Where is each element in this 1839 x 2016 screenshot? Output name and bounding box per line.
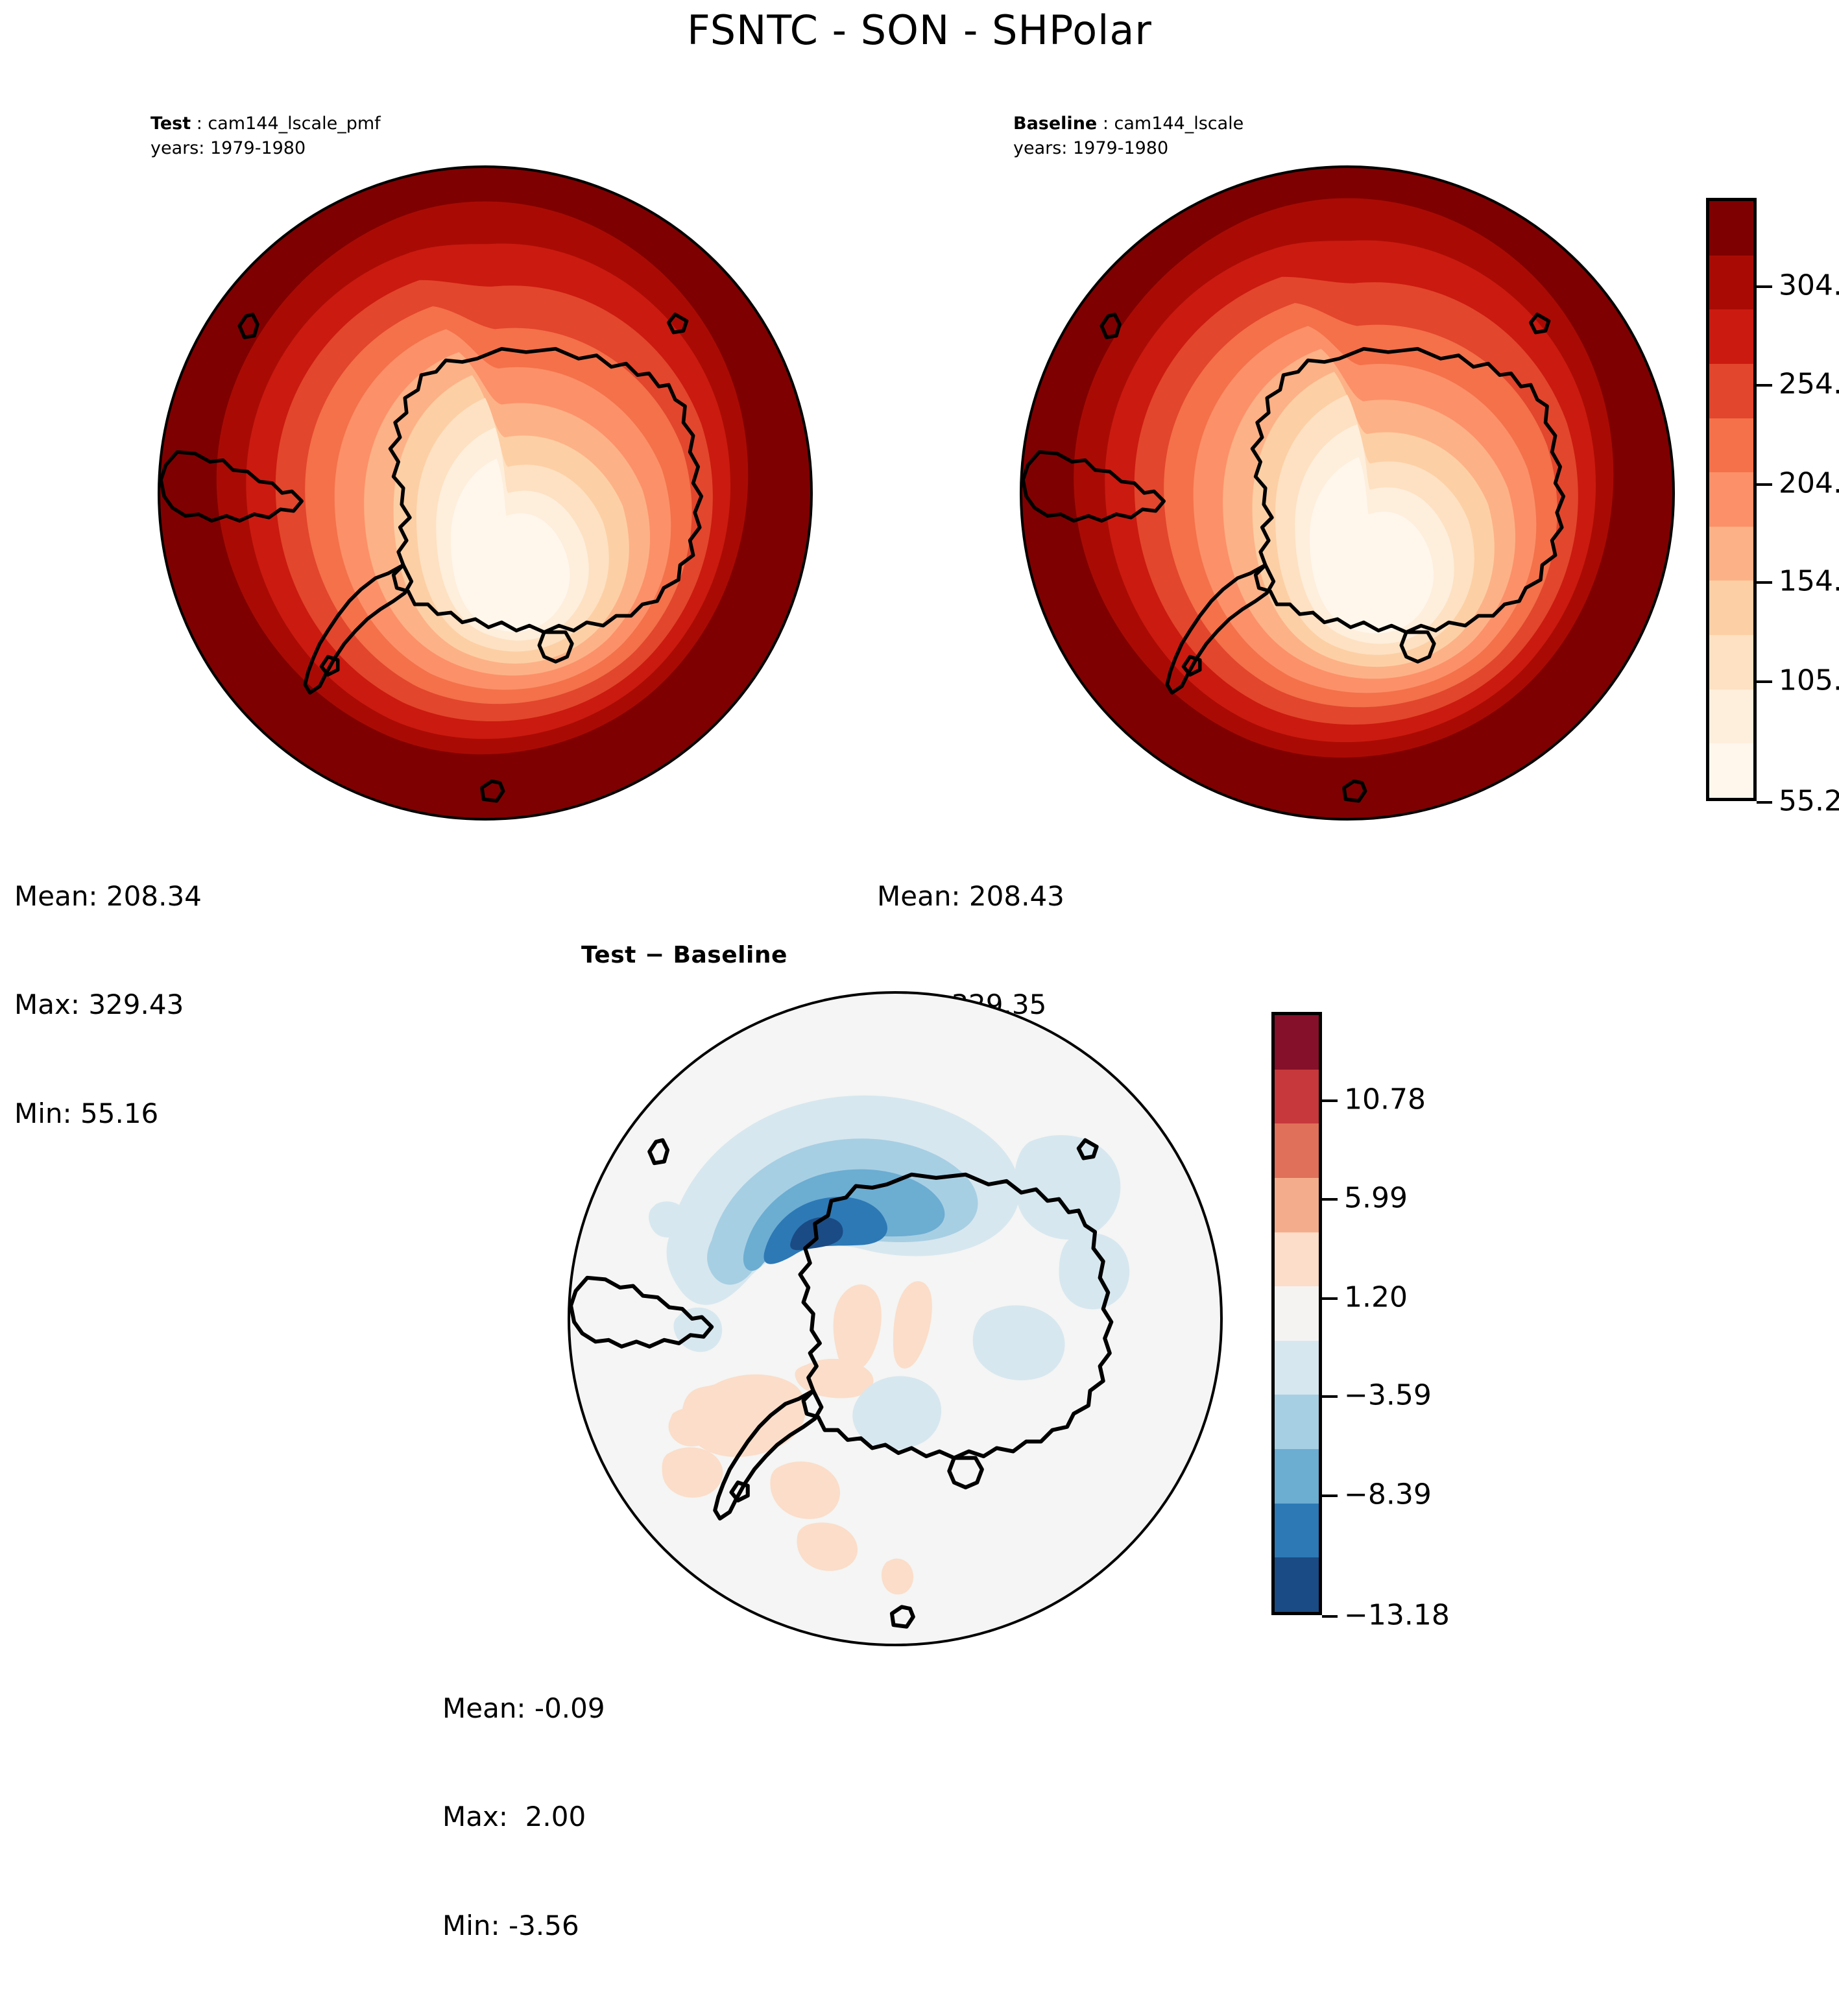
main-colorbar-band-1 xyxy=(1709,256,1753,310)
difference-colorbar-band-9 xyxy=(1275,1504,1319,1558)
main-colorbar-tick-0 xyxy=(1757,285,1772,288)
main-colorbar-band-9 xyxy=(1709,690,1753,744)
test-label: Test xyxy=(150,114,191,134)
main-colorbar-tick-4 xyxy=(1757,680,1772,683)
difference-colorbar-band-10 xyxy=(1275,1557,1319,1612)
difference-colorbar-band-5 xyxy=(1275,1286,1319,1341)
difference-stat-max: Max: 2.00 xyxy=(442,1799,605,1835)
test-stats: Mean: 208.34 Max: 329.43 Min: 55.16 xyxy=(14,806,202,1204)
difference-colorbar-tick-label-0: 10.78 xyxy=(1344,1083,1426,1116)
page-title: FSNTC - SON - SHPolar xyxy=(0,6,1839,54)
main-colorbar-tick-label-3: 154.9 xyxy=(1779,565,1839,598)
difference-colorbar-tick-2 xyxy=(1322,1297,1338,1300)
test-panel-dataset-line: Test : cam144_lscale_pmf xyxy=(150,112,381,136)
main-colorbar-tick-label-0: 304.5 xyxy=(1779,269,1839,302)
main-colorbar-band-4 xyxy=(1709,418,1753,473)
test-stat-max: Max: 329.43 xyxy=(14,987,202,1023)
difference-colorbar-tick-0 xyxy=(1322,1099,1338,1102)
difference-map-field xyxy=(568,991,1223,1646)
difference-colorbar-band-6 xyxy=(1275,1341,1319,1395)
test-panel-header: Test : cam144_lscale_pmf years: 1979-198… xyxy=(150,112,381,162)
baseline-panel-header: Baseline : cam144_lscale years: 1979-198… xyxy=(1013,112,1244,162)
difference-colorbar-tick-label-5: −13.18 xyxy=(1344,1599,1450,1632)
baseline-map[interactable] xyxy=(1020,165,1675,821)
difference-colorbar-tick-4 xyxy=(1322,1494,1338,1497)
difference-stats: Mean: -0.09 Max: 2.00 Min: -3.56 xyxy=(442,1618,605,2016)
difference-colorbar-tick-1 xyxy=(1322,1198,1338,1201)
baseline-panel-dataset-line: Baseline : cam144_lscale xyxy=(1013,112,1244,136)
difference-stat-min: Min: -3.56 xyxy=(442,1908,605,1944)
main-colorbar-tick-5 xyxy=(1757,801,1772,804)
difference-colorbar-band-4 xyxy=(1275,1232,1319,1287)
difference-map-contours xyxy=(568,991,1223,1646)
main-colorbar-band-6 xyxy=(1709,527,1753,581)
test-panel-years: years: 1979-1980 xyxy=(150,136,381,161)
main-colorbar-band-0 xyxy=(1709,201,1753,256)
difference-map[interactable] xyxy=(568,991,1223,1646)
test-stat-min: Min: 55.16 xyxy=(14,1096,202,1132)
main-colorbar-band-7 xyxy=(1709,581,1753,635)
baseline-map-field xyxy=(1020,165,1675,821)
main-colorbar[interactable]: 304.5254.6204.8154.9105.055.2 xyxy=(1706,198,1757,801)
main-colorbar-tick-2 xyxy=(1757,483,1772,486)
baseline-map-contours xyxy=(1020,165,1675,821)
test-map-field xyxy=(158,165,813,821)
difference-colorbar-band-8 xyxy=(1275,1449,1319,1504)
difference-colorbar-tick-label-3: −3.59 xyxy=(1344,1379,1432,1412)
baseline-dataset-name: cam144_lscale xyxy=(1114,114,1244,134)
difference-panel-title: Test − Baseline xyxy=(581,942,787,968)
test-label-separator: : xyxy=(191,114,208,134)
difference-colorbar-tick-label-1: 5.99 xyxy=(1344,1182,1408,1215)
baseline-stat-mean: Mean: 208.43 xyxy=(877,878,1064,915)
main-colorbar-tick-label-4: 105.0 xyxy=(1779,664,1839,697)
main-colorbar-band-10 xyxy=(1709,743,1753,798)
main-colorbar-band-5 xyxy=(1709,472,1753,527)
difference-colorbar[interactable]: 10.785.991.20−3.59−8.39−13.18 xyxy=(1271,1012,1322,1615)
test-map-contours xyxy=(158,165,813,821)
main-colorbar-tick-1 xyxy=(1757,384,1772,387)
difference-colorbar-tick-5 xyxy=(1322,1615,1338,1618)
difference-stat-mean: Mean: -0.09 xyxy=(442,1690,605,1727)
baseline-label-separator: : xyxy=(1097,114,1114,134)
test-map[interactable] xyxy=(158,165,813,821)
difference-colorbar-band-0 xyxy=(1275,1015,1319,1070)
main-colorbar-tick-3 xyxy=(1757,581,1772,584)
difference-colorbar-tick-label-2: 1.20 xyxy=(1344,1280,1408,1314)
test-dataset-name: cam144_lscale_pmf xyxy=(208,114,380,134)
baseline-panel-years: years: 1979-1980 xyxy=(1013,136,1244,161)
main-colorbar-band-3 xyxy=(1709,364,1753,418)
difference-colorbar-band-3 xyxy=(1275,1178,1319,1232)
test-stat-mean: Mean: 208.34 xyxy=(14,878,202,915)
difference-colorbar-band-7 xyxy=(1275,1395,1319,1449)
main-colorbar-tick-label-5: 55.2 xyxy=(1779,785,1839,818)
main-colorbar-bands xyxy=(1706,198,1757,801)
main-colorbar-band-2 xyxy=(1709,309,1753,364)
difference-colorbar-bands xyxy=(1271,1012,1322,1615)
baseline-label: Baseline xyxy=(1013,114,1097,134)
figure-canvas: FSNTC - SON - SHPolar Test : cam144_lsca… xyxy=(0,0,1839,1730)
difference-colorbar-band-1 xyxy=(1275,1070,1319,1124)
main-colorbar-band-8 xyxy=(1709,635,1753,690)
main-colorbar-tick-label-2: 204.8 xyxy=(1779,466,1839,499)
difference-colorbar-tick-3 xyxy=(1322,1395,1338,1398)
difference-colorbar-tick-label-4: −8.39 xyxy=(1344,1478,1432,1511)
difference-colorbar-band-2 xyxy=(1275,1123,1319,1178)
main-colorbar-tick-label-1: 254.6 xyxy=(1779,368,1839,401)
